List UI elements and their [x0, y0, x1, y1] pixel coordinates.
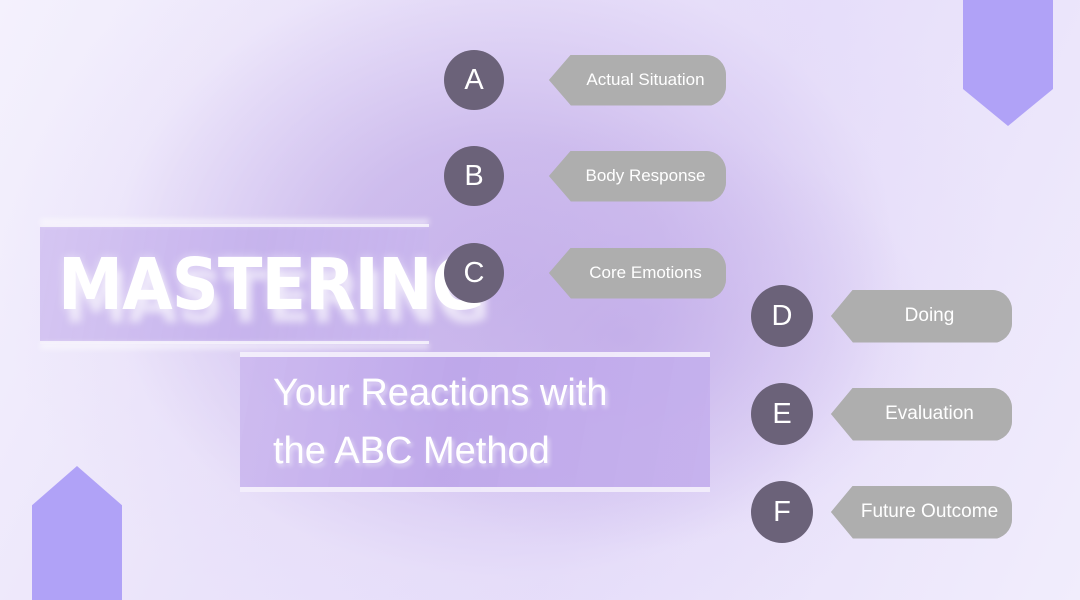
slide-canvas: MASTERING MASTERING Your Reactions with … — [0, 0, 1080, 600]
abc-letter-a: A — [444, 50, 504, 110]
abc-label-pill-e: Evaluation — [831, 388, 1012, 441]
abc-label-pill-b: Body Response — [549, 151, 726, 202]
abc-label-c: Core Emotions — [549, 248, 726, 299]
abc-item-b[interactable]: B Body Response — [444, 146, 726, 206]
abc-label-pill-f: Future Outcome — [831, 486, 1012, 539]
title-word-text: MASTERING — [58, 243, 484, 326]
abc-label-e: Evaluation — [831, 388, 1012, 441]
abc-item-e[interactable]: E Evaluation — [751, 383, 1012, 445]
abc-letter-c: C — [444, 243, 504, 303]
abc-item-c[interactable]: C Core Emotions — [444, 243, 726, 303]
subtitle-banner: Your Reactions with the ABC Method — [240, 352, 710, 492]
abc-item-d[interactable]: D Doing — [751, 285, 1012, 347]
abc-label-d: Doing — [831, 290, 1012, 343]
abc-label-f: Future Outcome — [831, 486, 1012, 539]
page-title: MASTERING MASTERING — [40, 224, 429, 344]
abc-label-a: Actual Situation — [549, 55, 726, 106]
abc-item-f[interactable]: F Future Outcome — [751, 481, 1012, 543]
abc-label-pill-d: Doing — [831, 290, 1012, 343]
subtitle-line-1: Your Reactions with — [273, 364, 710, 422]
abc-label-pill-c: Core Emotions — [549, 248, 726, 299]
abc-letter-f: F — [751, 481, 813, 543]
abc-item-a[interactable]: A Actual Situation — [444, 50, 726, 110]
abc-label-b: Body Response — [549, 151, 726, 202]
abc-letter-e: E — [751, 383, 813, 445]
abc-label-pill-a: Actual Situation — [549, 55, 726, 106]
abc-letter-b: B — [444, 146, 504, 206]
abc-letter-d: D — [751, 285, 813, 347]
subtitle-line-2: the ABC Method — [273, 422, 710, 480]
